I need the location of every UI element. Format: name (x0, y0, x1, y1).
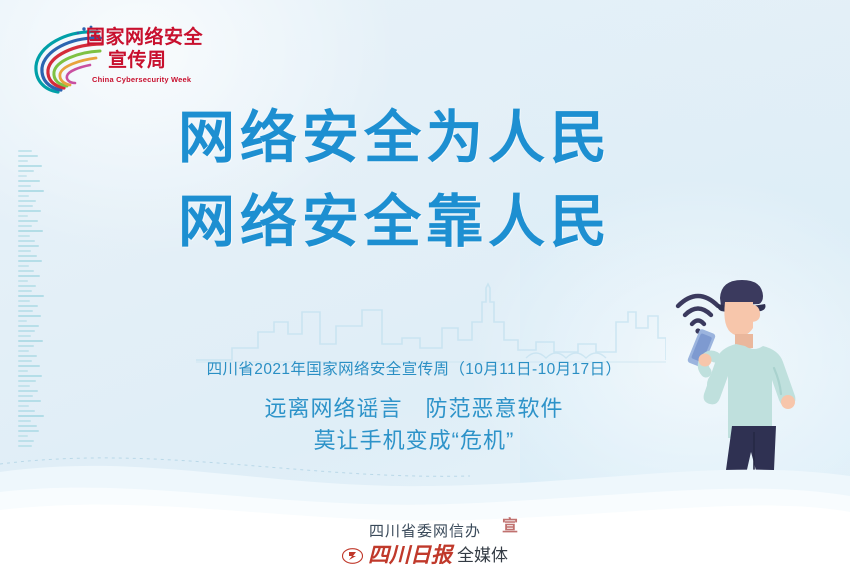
poster-canvas: 国家网络安全 宣传周 China Cybersecurity Week 网络安全… (0, 0, 850, 580)
decorative-barcode-strip (18, 150, 44, 460)
logo-line-1: 国家网络安全 (86, 28, 206, 47)
headline-line-1: 网络安全为人民 (178, 110, 678, 167)
logo-block: 国家网络安全 宣传周 China Cybersecurity Week (26, 22, 206, 100)
logo-line-2: 宣传周 (108, 51, 206, 70)
slogan-line-1: 远离网络谣言 防范恶意软件 (204, 391, 624, 423)
event-date-subtitle: 四川省2021年国家网络安全宣传周（10月11日-10月17日） (204, 357, 624, 379)
sichuan-daily-wordmark: 四川日报 (368, 545, 452, 566)
logo-english-label: China Cybersecurity Week (92, 75, 206, 84)
city-skyline-outline (196, 282, 666, 366)
media-suffix-label: 全媒体 (457, 547, 508, 564)
headline-line-2: 网络安全靠人民 (178, 194, 678, 251)
sichuan-daily-seal-icon (342, 548, 363, 564)
headline-block: 网络安全为人民 网络安全靠人民 (178, 110, 678, 251)
logo-text: 国家网络安全 宣传周 China Cybersecurity Week (86, 28, 206, 84)
footer-organization: 四川省委网信办 (0, 520, 850, 541)
footer-block: 四川省委网信办 四川日报 全媒体 (0, 520, 850, 566)
footer-logo-row: 四川日报 全媒体 (0, 545, 850, 566)
wifi-icon (678, 296, 718, 334)
